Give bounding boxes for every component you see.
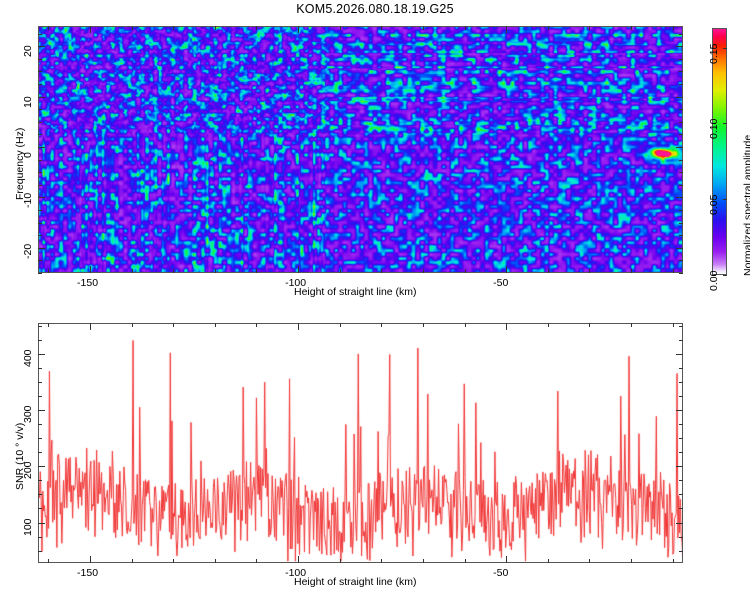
tick-mark [38,452,42,453]
tick-mark [298,266,299,273]
tick-mark [423,559,424,563]
tick-mark [38,494,42,495]
tick-mark [38,46,45,47]
tick-mark [38,248,45,249]
tick-mark [38,197,45,198]
tick-mark [38,424,42,425]
tick-mark [38,84,42,85]
tick-mark [679,160,683,161]
tick-mark [38,160,42,161]
tick-mark [298,556,299,563]
tick-mark [173,559,174,563]
tick-mark [548,323,549,327]
tick-mark [38,438,42,439]
tick-mark [679,438,683,439]
tick-mark [298,26,299,33]
tick-mark [38,260,42,261]
tick-mark [548,26,549,30]
tick-mark [48,323,49,327]
tick-mark [676,466,683,467]
tick-mark [679,134,683,135]
tick-mark [679,71,683,72]
tick-mark [506,323,507,330]
tick-mark [38,480,42,481]
tick-mark [673,323,674,327]
tick-mark [679,480,683,481]
tick-label: 100 [22,518,34,536]
tick-mark [340,269,341,273]
tick-mark [38,523,45,524]
tick-mark [381,559,382,563]
tick-mark [679,223,683,224]
tick-mark [38,326,42,327]
tick-label: 0.10 [708,119,720,139]
tick-mark [465,269,466,273]
tick-mark [631,26,632,30]
tick-mark [673,559,674,563]
tick-label: -150 [77,277,98,289]
tick-mark [631,269,632,273]
colorbar [712,28,727,275]
tick-mark [679,210,683,211]
tick-mark [676,197,683,198]
tick-mark [215,26,216,30]
tick-mark [589,559,590,563]
tick-mark [38,340,42,341]
tick-mark [465,26,466,30]
tick-mark [679,273,683,274]
tick-mark [173,26,174,30]
tick-mark [256,559,257,563]
tick-mark [423,269,424,273]
colorbar-label: Normalized spectral amplitude [742,135,750,276]
tick-mark [340,26,341,30]
tick-mark [38,354,45,355]
tick-mark [676,354,683,355]
tick-mark [256,323,257,327]
tick-mark [90,556,91,563]
tick-mark [90,26,91,33]
tick-mark [589,26,590,30]
tick-mark [173,323,174,327]
tick-mark [673,26,674,30]
tick-mark [38,97,45,98]
tick-mark [679,340,683,341]
tick-label: -20 [22,244,34,259]
tick-mark [38,210,42,211]
tick-mark [48,559,49,563]
tick-mark [38,368,42,369]
tick-label: 20 [22,45,34,57]
tick-mark [679,109,683,110]
tick-mark [215,269,216,273]
tick-label: 300 [22,406,34,424]
tick-label: 0.05 [708,195,720,215]
tick-mark [381,26,382,30]
tick-mark [38,185,42,186]
tick-mark [215,559,216,563]
tick-mark [679,172,683,173]
tick-mark [679,122,683,123]
spectrogram-y-axis-label: Frequency (Hz) [14,128,26,200]
tick-mark [679,424,683,425]
tick-label: -50 [493,567,508,579]
tick-mark [38,410,45,411]
colorbar-tick [723,48,727,49]
colorbar-tick [723,199,727,200]
tick-mark [676,523,683,524]
spectrogram-canvas [39,27,683,273]
tick-mark [38,235,42,236]
tick-mark [679,235,683,236]
snr-y-axis-label: SNR (10 ° v/v) [14,423,26,490]
page-title: KOM5.2026.080.18.19.G25 [0,2,750,16]
tick-mark [506,266,507,273]
tick-mark [38,551,42,552]
colorbar-tick [723,123,727,124]
tick-label: 0.00 [708,271,720,291]
tick-mark [298,323,299,330]
tick-mark [679,382,683,383]
tick-mark [589,323,590,327]
tick-mark [465,323,466,327]
tick-mark [38,223,42,224]
tick-mark [38,147,45,148]
tick-mark [676,46,683,47]
tick-mark [506,26,507,33]
tick-mark [589,269,590,273]
tick-mark [132,26,133,30]
tick-label: -50 [493,277,508,289]
tick-mark [38,134,42,135]
tick-mark [38,537,42,538]
tick-mark [631,323,632,327]
tick-mark [679,551,683,552]
tick-mark [48,269,49,273]
tick-mark [48,26,49,30]
spectrogram-x-axis-label: Height of straight line (km) [294,286,417,298]
tick-mark [132,559,133,563]
colorbar-tick [723,275,727,276]
tick-mark [38,508,42,509]
tick-mark [340,559,341,563]
tick-mark [465,559,466,563]
tick-mark [631,559,632,563]
snr-x-axis-label: Height of straight line (km) [294,576,417,588]
tick-mark [548,559,549,563]
snr-plot-area [38,323,683,563]
spectrogram-plot-area [38,26,683,273]
tick-mark [256,26,257,30]
tick-mark [506,556,507,563]
tick-mark [90,266,91,273]
tick-label: 0.15 [708,43,720,63]
tick-mark [423,26,424,30]
tick-mark [132,269,133,273]
tick-mark [676,97,683,98]
tick-mark [38,396,42,397]
tick-mark [90,323,91,330]
tick-mark [548,269,549,273]
colorbar-gradient [713,29,726,274]
tick-mark [679,508,683,509]
tick-label: -150 [77,567,98,579]
tick-mark [676,410,683,411]
snr-trace-canvas [39,324,683,563]
tick-mark [38,273,42,274]
tick-mark [381,269,382,273]
tick-mark [38,71,42,72]
tick-mark [676,248,683,249]
tick-label: 400 [22,349,34,367]
tick-mark [38,122,42,123]
tick-mark [38,172,42,173]
tick-mark [679,34,683,35]
tick-mark [679,326,683,327]
tick-mark [676,147,683,148]
tick-mark [381,323,382,327]
tick-label: 10 [22,96,34,108]
tick-mark [679,84,683,85]
tick-mark [423,323,424,327]
tick-mark [673,269,674,273]
tick-mark [679,452,683,453]
tick-mark [38,466,45,467]
tick-mark [679,260,683,261]
tick-mark [679,537,683,538]
tick-mark [38,382,42,383]
tick-mark [679,59,683,60]
tick-mark [132,323,133,327]
tick-mark [679,185,683,186]
tick-mark [256,269,257,273]
tick-mark [38,109,42,110]
tick-mark [215,323,216,327]
tick-mark [38,59,42,60]
tick-mark [679,396,683,397]
tick-mark [679,368,683,369]
tick-mark [340,323,341,327]
tick-mark [679,494,683,495]
tick-mark [173,269,174,273]
tick-mark [38,34,42,35]
